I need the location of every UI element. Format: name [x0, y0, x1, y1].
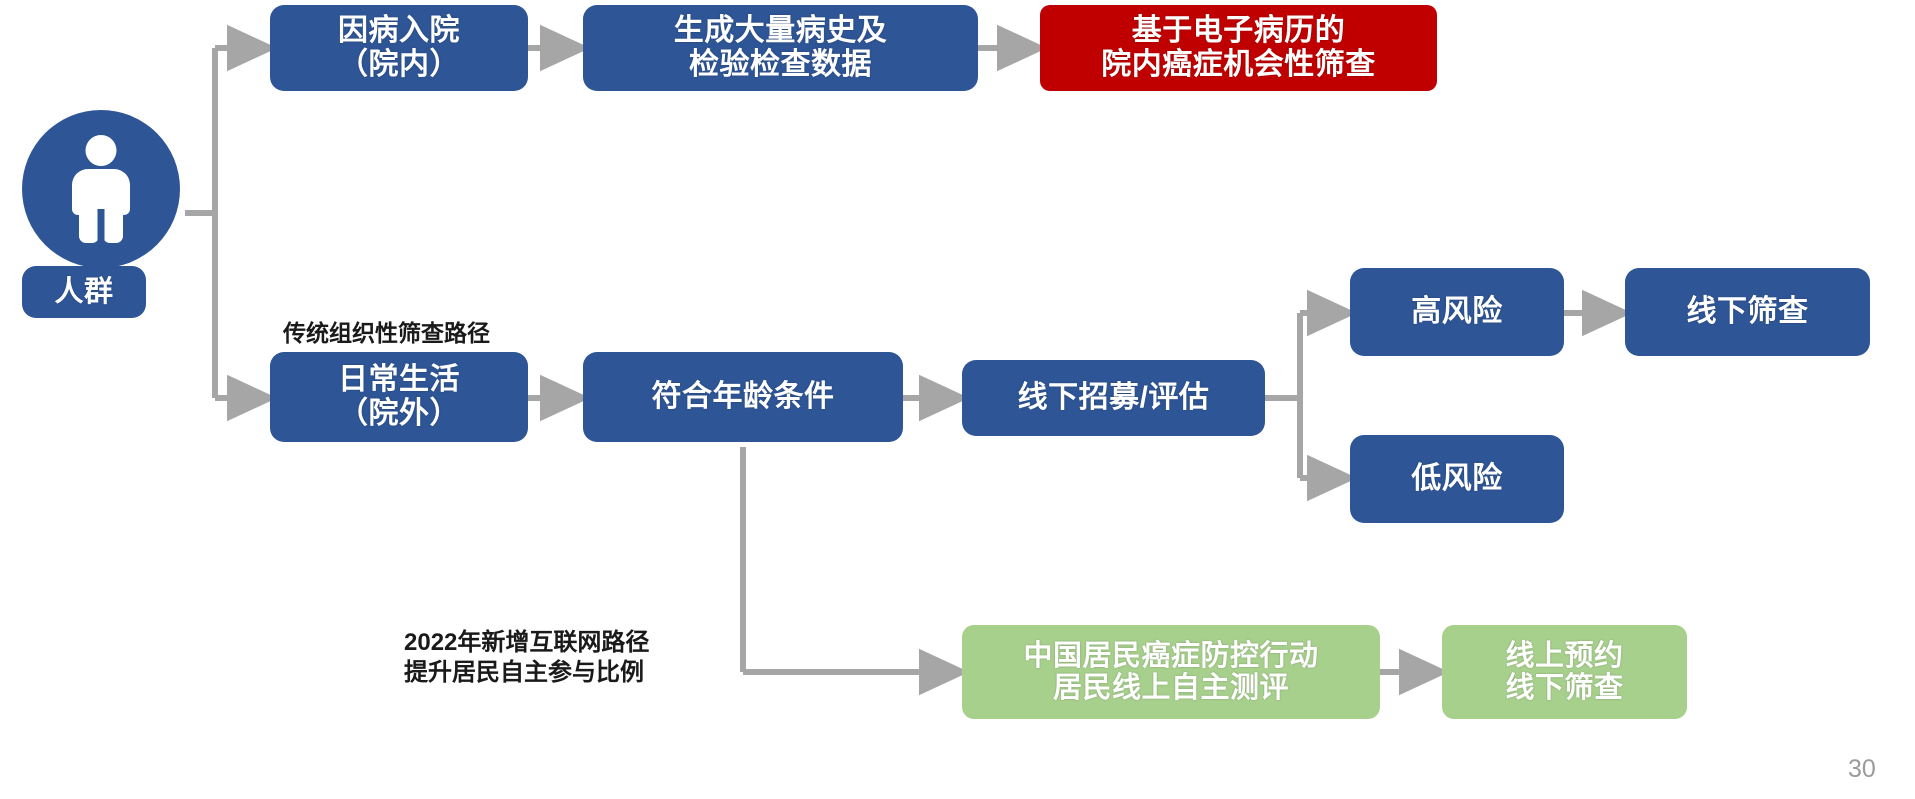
- person-leg-left: [79, 197, 99, 243]
- node-offline-recruit[interactable]: 线下招募/评估: [962, 360, 1265, 436]
- annotation-traditional-path-text: 传统组织性筛查路径: [283, 320, 490, 346]
- node-generate-data-label: 生成大量病史及 检验检查数据: [674, 14, 888, 81]
- annotation-traditional-path: 传统组织性筛查路径: [283, 290, 490, 348]
- page-number: 30: [1848, 755, 1876, 784]
- person-glyph: [69, 135, 133, 243]
- node-daily-life[interactable]: 日常生活 （院外）: [270, 352, 528, 442]
- annotation-internet-path: 2022年新增互联网路径 提升居民自主参与比例: [404, 598, 649, 688]
- node-offline-recruit-label: 线下招募/评估: [1018, 381, 1210, 415]
- diagram-canvas: 人群 因病入院 （院内） 生成大量病史及 检验检查数据 基于电子病历的 院内癌症…: [0, 0, 1915, 799]
- node-offline-screening-label: 线下筛查: [1687, 295, 1809, 329]
- node-age-eligible-label: 符合年龄条件: [652, 380, 835, 414]
- node-online-booking-label: 线上预约 线下筛查: [1505, 640, 1623, 705]
- node-high-risk[interactable]: 高风险: [1350, 268, 1564, 356]
- person-icon: [22, 110, 180, 268]
- node-emr-screening-label: 基于电子病历的 院内癌症机会性筛查: [1101, 14, 1376, 81]
- node-high-risk-label: 高风险: [1411, 295, 1503, 329]
- node-emr-screening[interactable]: 基于电子病历的 院内癌症机会性筛查: [1040, 5, 1437, 91]
- node-population-label: 人群: [54, 276, 113, 308]
- node-low-risk[interactable]: 低风险: [1350, 435, 1564, 523]
- page-number-text: 30: [1848, 755, 1876, 783]
- node-online-self-assessment[interactable]: 中国居民癌症防控行动 居民线上自主测评: [962, 625, 1380, 719]
- person-leg-right: [103, 197, 123, 243]
- node-hospital-admission[interactable]: 因病入院 （院内）: [270, 5, 528, 91]
- node-low-risk-label: 低风险: [1411, 462, 1503, 496]
- node-online-self-assessment-label: 中国居民癌症防控行动 居民线上自主测评: [1023, 640, 1318, 705]
- node-offline-screening[interactable]: 线下筛查: [1625, 268, 1870, 356]
- node-hospital-admission-label: 因病入院 （院内）: [338, 14, 460, 81]
- node-generate-data[interactable]: 生成大量病史及 检验检查数据: [583, 5, 978, 91]
- person-head: [86, 135, 117, 166]
- node-population[interactable]: 人群: [22, 266, 146, 318]
- person-leg-gap: [98, 209, 105, 245]
- node-online-booking[interactable]: 线上预约 线下筛查: [1442, 625, 1687, 719]
- annotation-internet-path-text: 2022年新增互联网路径 提升居民自主参与比例: [404, 629, 649, 686]
- node-daily-life-label: 日常生活 （院外）: [338, 363, 460, 430]
- node-age-eligible[interactable]: 符合年龄条件: [583, 352, 903, 442]
